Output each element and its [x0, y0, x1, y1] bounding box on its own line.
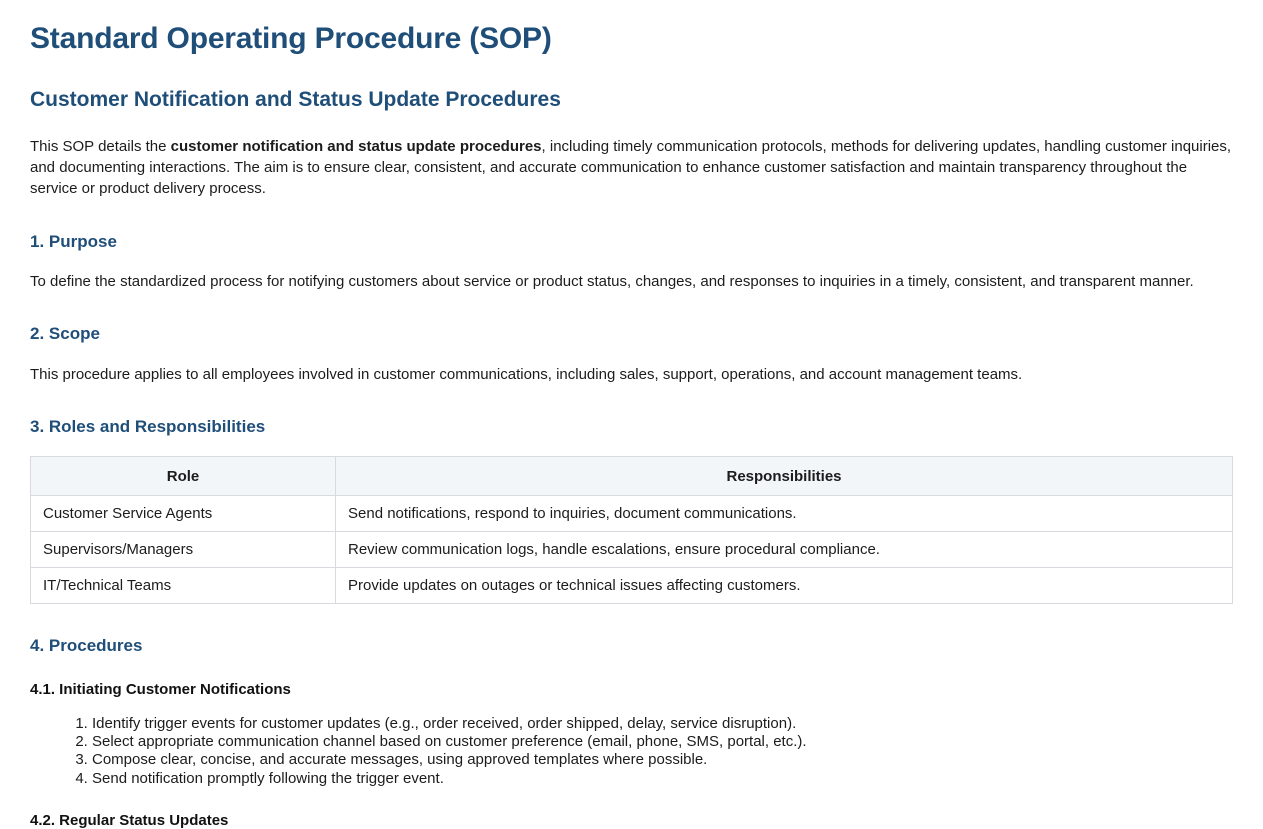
table-cell-role: Customer Service Agents [31, 496, 336, 532]
document-subtitle: Customer Notification and Status Update … [30, 87, 1233, 112]
table-row: IT/Technical Teams Provide updates on ou… [31, 568, 1233, 604]
section-heading-purpose: 1. Purpose [30, 232, 1233, 252]
section-heading-scope: 2. Scope [30, 324, 1233, 344]
list-item: Select appropriate communication channel… [92, 733, 1233, 751]
intro-bold-phrase: customer notification and status update … [171, 138, 542, 155]
intro-lead: This SOP details the [30, 138, 171, 155]
intro-paragraph: This SOP details the customer notificati… [30, 136, 1233, 200]
table-cell-responsibilities: Provide updates on outages or technical … [336, 568, 1233, 604]
table-row: Customer Service Agents Send notificatio… [31, 496, 1233, 532]
table-cell-responsibilities: Review communication logs, handle escala… [336, 532, 1233, 568]
table-cell-role: Supervisors/Managers [31, 532, 336, 568]
section-body-scope: This procedure applies to all employees … [30, 364, 1230, 385]
document-page: Standard Operating Procedure (SOP) Custo… [0, 0, 1263, 829]
list-item: Send notification promptly following the… [92, 770, 1233, 788]
subsection-heading-4-2: 4.2. Regular Status Updates [30, 812, 1233, 829]
table-header-row: Role Responsibilities [31, 457, 1233, 496]
page-title: Standard Operating Procedure (SOP) [30, 22, 1233, 57]
section-heading-procedures: 4. Procedures [30, 636, 1233, 656]
subsection-heading-4-1: 4.1. Initiating Customer Notifications [30, 681, 1233, 698]
section-body-purpose: To define the standardized process for n… [30, 271, 1230, 292]
table-header-role: Role [31, 457, 336, 496]
table-header-responsibilities: Responsibilities [336, 457, 1233, 496]
table-row: Supervisors/Managers Review communicatio… [31, 532, 1233, 568]
roles-responsibilities-table: Role Responsibilities Customer Service A… [30, 456, 1233, 604]
table-cell-responsibilities: Send notifications, respond to inquiries… [336, 496, 1233, 532]
section-heading-roles: 3. Roles and Responsibilities [30, 417, 1233, 437]
table-cell-role: IT/Technical Teams [31, 568, 336, 604]
list-item: Identify trigger events for customer upd… [92, 715, 1233, 733]
list-item: Compose clear, concise, and accurate mes… [92, 751, 1233, 769]
procedure-steps-list: Identify trigger events for customer upd… [30, 715, 1233, 788]
